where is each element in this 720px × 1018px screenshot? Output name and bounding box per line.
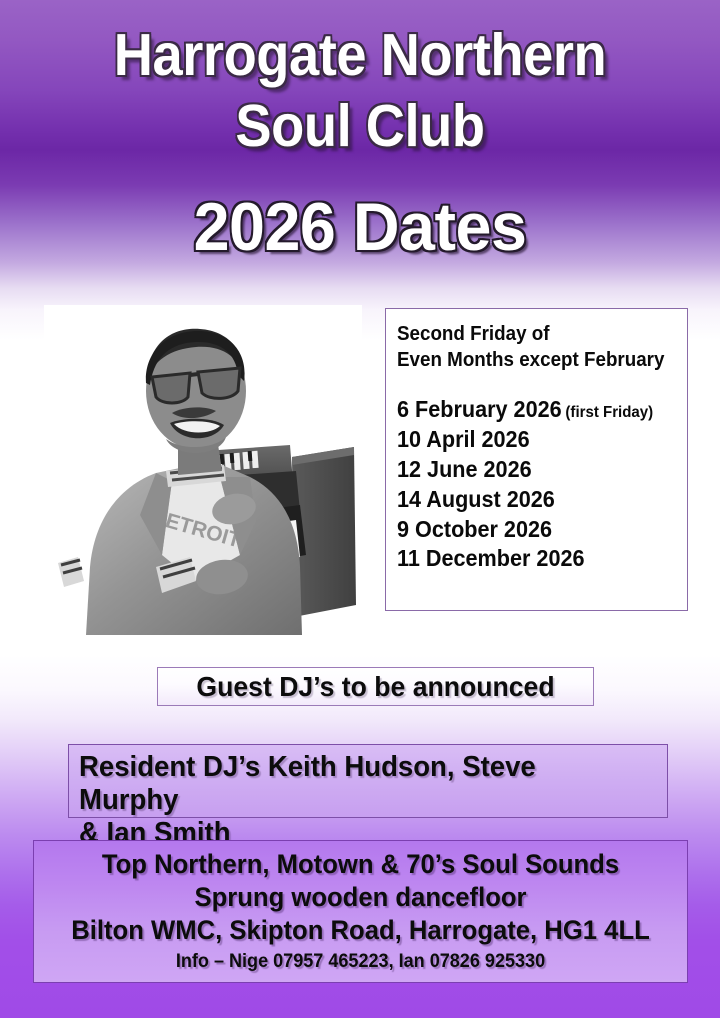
poster-canvas: Harrogate Northern Soul Club 2026 Dates [0, 0, 720, 1018]
resident-dj-banner: Resident DJ’s Keith Hudson, Steve Murphy… [68, 744, 668, 818]
venue-dancefloor: Sprung wooden dancefloor [50, 881, 670, 914]
venue-contact-info: Info – Nige 07957 465223, Ian 07826 9253… [50, 950, 670, 973]
venue-details-banner: Top Northern, Motown & 70’s Soul Sounds … [33, 840, 688, 983]
dates-heading-line-2: Even Months except February [397, 347, 670, 373]
resident-dj-line-1: Resident DJ’s Keith Hudson, Steve Murphy [79, 751, 638, 817]
dates-list: 6 February 2026(first Friday) 10 April 2… [397, 395, 687, 574]
date-value: 6 February 2026 [397, 396, 562, 422]
date-note: (first Friday) [565, 404, 653, 421]
list-item: 9 October 2026 [397, 515, 670, 545]
list-item: 14 August 2026 [397, 485, 670, 515]
list-item: 6 February 2026(first Friday) [397, 395, 670, 425]
dates-heading-line-1: Second Friday of [397, 321, 670, 347]
guest-dj-banner: Guest DJ’s to be announced [157, 667, 594, 706]
page-title-line-2: Soul Club [29, 97, 691, 156]
list-item: 11 December 2026 [397, 544, 670, 574]
page-subtitle: 2026 Dates [18, 193, 702, 261]
list-item: 12 June 2026 [397, 455, 670, 485]
venue-address: Bilton WMC, Skipton Road, Harrogate, HG1… [50, 914, 670, 947]
musician-photo: DETROIT [44, 305, 362, 635]
venue-music-styles: Top Northern, Motown & 70’s Soul Sounds [50, 848, 670, 881]
guest-dj-text: Guest DJ’s to be announced [196, 671, 554, 703]
dates-panel: Second Friday of Even Months except Febr… [385, 308, 688, 611]
page-title-line-1: Harrogate Northern [29, 26, 691, 85]
list-item: 10 April 2026 [397, 425, 670, 455]
